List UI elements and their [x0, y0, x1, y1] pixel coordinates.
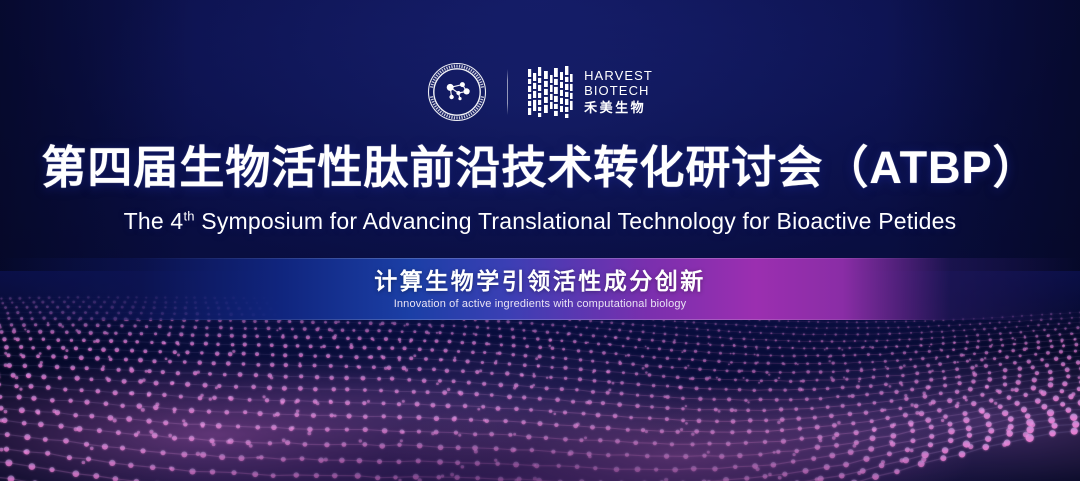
subtitle-band: 计算生物学引领活性成分创新 Innovation of active ingre… [0, 258, 1080, 320]
title-en-prefix: The 4 [124, 208, 184, 234]
subtitle-chinese: 计算生物学引领活性成分创新 [374, 268, 706, 295]
circular-seal-molecule-icon [427, 62, 487, 122]
title-zone: 第四届生物活性肽前沿技术转化研讨会（ATBP） The 4th Symposiu… [0, 140, 1080, 236]
logo-row: HARVEST BIOTECH 禾美生物 [0, 62, 1080, 122]
subtitle-band-content: 计算生物学引领活性成分创新 Innovation of active ingre… [0, 258, 1080, 320]
brand-text: HARVEST BIOTECH 禾美生物 [584, 69, 653, 116]
conference-banner: HARVEST BIOTECH 禾美生物 第四届生物活性肽前沿技术转化研讨会（A… [0, 0, 1080, 481]
title-en-ordinal: th [183, 208, 194, 223]
logo-divider [507, 69, 508, 115]
brand-name-line-2: BIOTECH [584, 84, 653, 98]
subtitle-english: Innovation of active ingredients with co… [394, 297, 687, 311]
title-en-suffix: Symposium for Advancing Translational Te… [195, 208, 957, 234]
main-title-english: The 4th Symposium for Advancing Translat… [0, 206, 1080, 236]
brand-name-line-1: HARVEST [584, 69, 653, 83]
barcode-mark-icon [528, 65, 574, 119]
brand-lockup: HARVEST BIOTECH 禾美生物 [528, 65, 653, 119]
brand-name-chinese: 禾美生物 [584, 100, 653, 116]
main-title-chinese: 第四届生物活性肽前沿技术转化研讨会（ATBP） [0, 140, 1080, 196]
